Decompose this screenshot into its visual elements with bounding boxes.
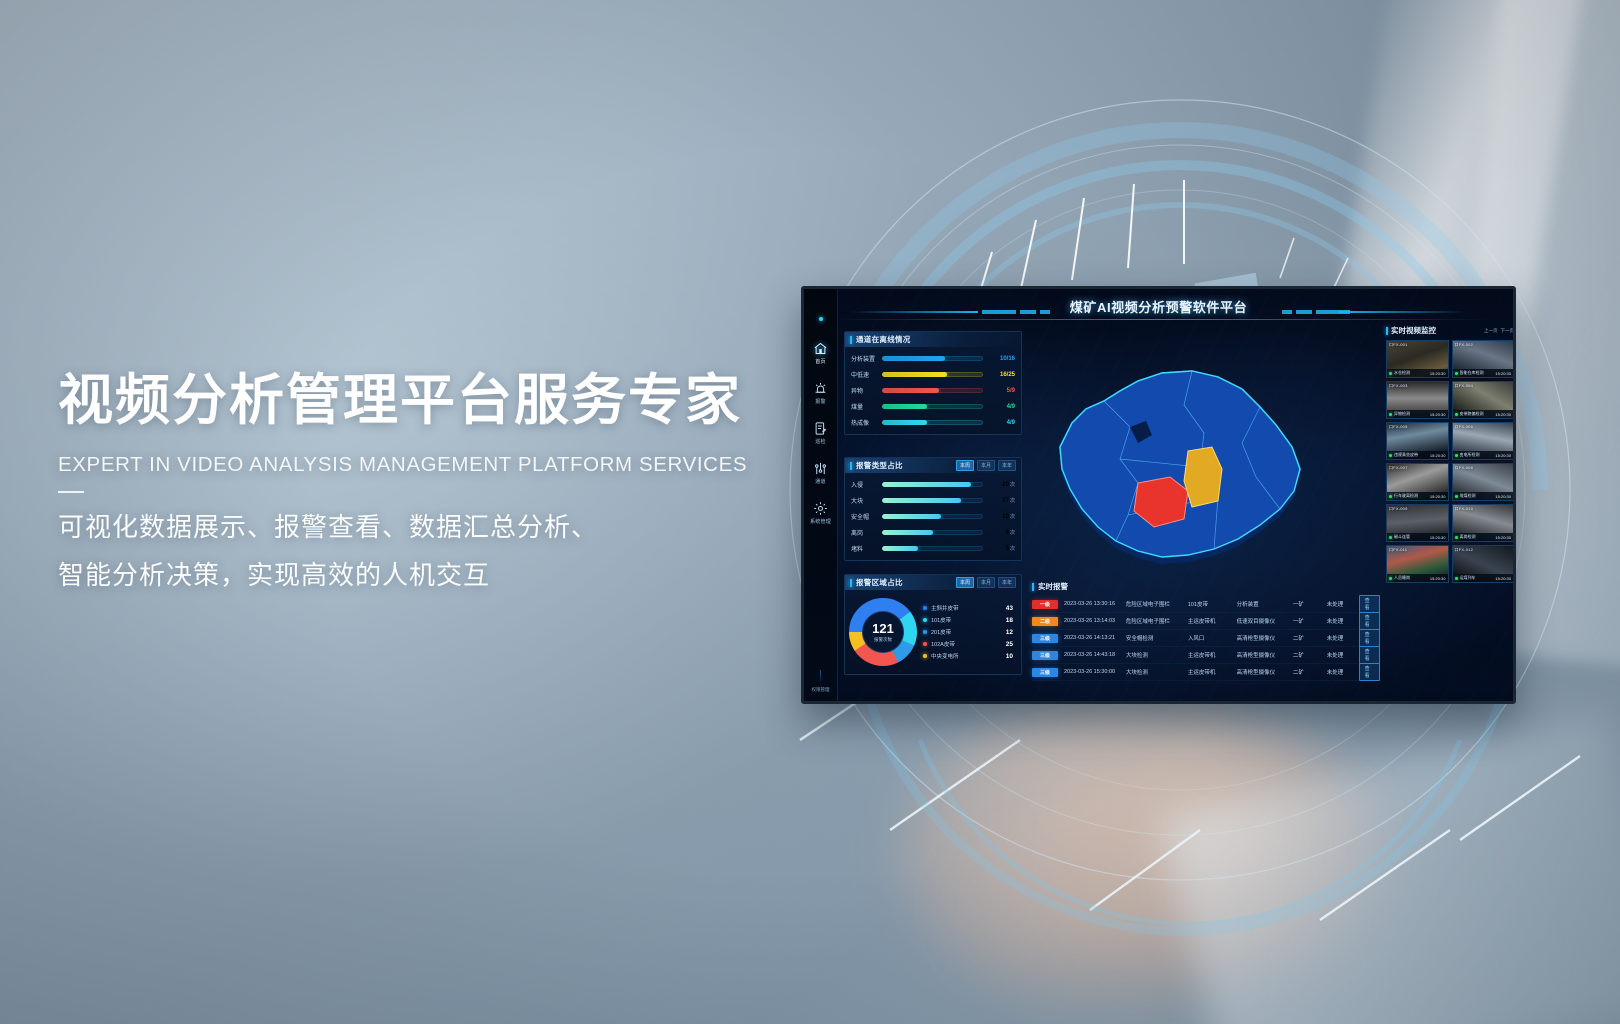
progress-track: [882, 420, 983, 425]
video-tile-name: 皮带跑偏检测: [1460, 411, 1484, 417]
status-badge: 一级: [1032, 600, 1058, 609]
sidebar-item-home[interactable]: 首页: [813, 341, 828, 365]
row-value: 10/16: [988, 356, 1015, 362]
sidebar-item-channel[interactable]: 通道: [813, 461, 828, 485]
segment-本年[interactable]: 本年: [998, 577, 1016, 588]
video-tile-name: 变电所检测: [1460, 452, 1480, 458]
row-label: 异物: [851, 386, 877, 395]
legend-item: 中央变电所10: [923, 652, 1013, 660]
legend-label: 主斜井皮带: [931, 604, 1002, 612]
cell-status: 未处理: [1327, 634, 1359, 642]
row-value: 4/9: [988, 420, 1015, 426]
sidebar-item-label: 首页: [815, 358, 825, 365]
video-tile-time: 15:20:30: [1430, 453, 1446, 458]
video-tile-time: 15:20:30: [1430, 494, 1446, 499]
online-indicator: [1455, 495, 1458, 498]
legend-value: 18: [1006, 617, 1013, 624]
cell-mine: 一矿: [1293, 600, 1327, 608]
row-label: 离岗: [851, 528, 877, 537]
row-value: 4/9: [988, 404, 1015, 410]
online-indicator: [1455, 413, 1458, 416]
cell-mine: 二矿: [1293, 651, 1327, 659]
camera-id: 口FX-005: [1389, 424, 1408, 430]
row-value: 17次: [988, 497, 1015, 504]
row-label: 中低速: [851, 370, 877, 379]
progress-fill: [882, 420, 927, 425]
donut-chart: 121 报警次数: [849, 598, 917, 666]
video-pagination: 上一页 下一页: [1484, 328, 1514, 334]
sidebar-footer-label: 权限管理: [812, 687, 830, 693]
panel-header: 报警类型占比 本周本月本年: [845, 458, 1021, 473]
hero-divider: [58, 491, 84, 493]
table-row: 三级2023-03-26 14:13:21安全帽检测入风口高清枪型摄像仪二矿未处…: [1032, 630, 1380, 647]
online-indicator: [1389, 413, 1392, 416]
video-tile-caption: 智能仓库检测15:20:30: [1453, 369, 1514, 377]
legend-item: 主斜井皮带43: [923, 604, 1013, 612]
video-tile[interactable]: 口FX-011人员睡岗15:20:30: [1386, 545, 1449, 583]
panel-header: 报警区域占比 本周本月本年: [845, 575, 1021, 590]
alarm-type-row: 大块17次: [851, 496, 1015, 505]
view-button[interactable]: 查看: [1359, 663, 1380, 681]
accent-tick: [1386, 327, 1388, 335]
segment-本月[interactable]: 本月: [977, 577, 995, 588]
video-tile-caption: 磁斗连管15:20:30: [1387, 533, 1448, 541]
video-tile[interactable]: 口FX-007行车驶离检测15:20:30: [1386, 463, 1449, 501]
progress-fill: [882, 356, 945, 361]
channel-status-row: 煤量4/9: [851, 402, 1015, 411]
progress-fill: [882, 514, 941, 519]
row-label: 安全帽: [851, 512, 877, 521]
row-label: 煤量: [851, 402, 877, 411]
sidebar-item-label: 系统管理: [810, 518, 831, 525]
row-value: 16/25: [988, 372, 1015, 378]
camera-id: 口FX-004: [1455, 383, 1474, 389]
legend-label: 102A皮带: [931, 640, 1002, 648]
time-range-segmented-control[interactable]: 本周本月本年: [956, 460, 1021, 471]
cell-time: 2023-03-26 13:14:03: [1064, 618, 1126, 624]
dashboard-sidebar: 首页 报警 巡检: [804, 289, 838, 701]
hero-description-line-1: 可视化数据展示、报警查看、数据汇总分析、: [58, 503, 818, 551]
legend-label: 201皮带: [931, 628, 1002, 636]
online-indicator: [1455, 454, 1458, 457]
region-map[interactable]: [1036, 341, 1326, 591]
cell-time: 2023-03-26 13:30:16: [1064, 601, 1126, 607]
channel-status-row: 异物5/9: [851, 386, 1015, 395]
video-tile-name: 违规乘坐皮带: [1394, 452, 1418, 458]
video-tile-caption: 堆煤检测15:20:30: [1453, 492, 1514, 500]
legend-swatch: [923, 630, 927, 634]
dashboard-screen: 煤矿AI视频分析预警软件平台 首页 报: [804, 289, 1513, 701]
camera-id: 口FX-010: [1455, 506, 1474, 512]
online-indicator: [1389, 454, 1392, 457]
sidebar-footer: 权限管理: [812, 670, 830, 693]
table-row: 三级2023-03-26 15:30:00大块检测主运皮带机高清枪型摄像仪二矿未…: [1032, 664, 1380, 681]
video-tile-name: 智能仓库检测: [1460, 370, 1484, 376]
cell-time: 2023-03-26 14:13:21: [1064, 635, 1126, 641]
progress-fill: [882, 546, 918, 551]
video-tile-time: 15:20:30: [1495, 494, 1511, 499]
sidebar-item-alarm[interactable]: 报警: [813, 381, 828, 405]
online-indicator: [1389, 495, 1392, 498]
status-badge: 三级: [1032, 668, 1058, 677]
segment-本年[interactable]: 本年: [998, 460, 1016, 471]
online-indicator: [1389, 577, 1392, 580]
realtime-alarm-panel: 实时报警 一级2023-03-26 13:30:16危险区域电子围栏101皮带分…: [1032, 581, 1380, 681]
sidebar-item-label: 报警: [815, 398, 825, 405]
video-tile-time: 15:20:30: [1430, 535, 1446, 540]
progress-fill: [882, 372, 947, 377]
alarm-type-row: 离岗8次: [851, 528, 1015, 537]
cell-alarm-type: 危险区域电子围栏: [1126, 600, 1188, 608]
camera-id: 口FX-008: [1455, 465, 1474, 471]
panel-title: 报警类型占比: [856, 460, 903, 471]
online-indicator: [1455, 372, 1458, 375]
legend-swatch: [923, 642, 927, 646]
hero-description-line-2: 智能分析决策，实现高效的人机交互: [58, 551, 818, 599]
channel-bar-list: 分析装置10/16中低速16/25异物5/9煤量4/9热成像4/9: [845, 347, 1021, 434]
progress-track: [882, 498, 983, 503]
view-button[interactable]: 查看: [1359, 646, 1380, 664]
donut-total-caption: 报警次数: [874, 637, 892, 643]
cell-location: 主运皮带机: [1188, 668, 1237, 676]
camera-id: 口FX-002: [1455, 342, 1474, 348]
cell-mine: 一矿: [1293, 617, 1327, 625]
hero-subtitle: EXPERT IN VIDEO ANALYSIS MANAGEMENT PLAT…: [58, 453, 818, 477]
video-tile-time: 15:20:30: [1430, 576, 1446, 581]
camera-id: 口FX-006: [1455, 424, 1474, 430]
video-tile-caption: 变电所检测15:20:30: [1453, 451, 1514, 459]
page-title: 视频分析管理平台服务专家: [58, 368, 818, 433]
sidebar-item-system-management[interactable]: 系统管理: [810, 501, 831, 525]
panel-header: 通道在离线情况: [845, 332, 1021, 347]
video-tile-time: 15:20:30: [1495, 535, 1511, 540]
cell-device: 高清枪型摄像仪: [1237, 634, 1293, 642]
map-region-highlight-yellow: [1184, 447, 1222, 507]
camera-id: 口FX-003: [1389, 383, 1408, 389]
legend-item: 201皮带12: [923, 628, 1013, 636]
row-value: 5/9: [988, 388, 1015, 394]
row-label: 大块: [851, 496, 877, 505]
video-tile-time: 15:20:30: [1495, 371, 1511, 376]
row-label: 入侵: [851, 480, 877, 489]
video-tile[interactable]: 口FX-005违规乘坐皮带15:20:30: [1386, 422, 1449, 460]
status-badge: 三级: [1032, 634, 1058, 643]
progress-track: [882, 530, 983, 535]
progress-fill: [882, 388, 939, 393]
online-indicator: [1455, 536, 1458, 539]
online-indicator: [1389, 536, 1392, 539]
cell-location: 101皮带: [1188, 600, 1237, 608]
progress-fill: [882, 482, 971, 487]
segment-本月[interactable]: 本月: [977, 460, 995, 471]
video-tile[interactable]: 口FX-012运煤列车15:20:30: [1452, 545, 1515, 583]
dashboard-header: 煤矿AI视频分析预警软件平台: [804, 289, 1513, 327]
legend-label: 中央变电所: [931, 652, 1002, 660]
sidebar-item-inspection[interactable]: 巡检: [813, 421, 828, 445]
legend-swatch: [923, 618, 927, 622]
video-tile[interactable]: 口FX-002智能仓库检测15:20:30: [1452, 340, 1515, 378]
cell-mine: 二矿: [1293, 668, 1327, 676]
cell-alarm-type: 安全帽检测: [1126, 634, 1188, 642]
video-tile-caption: 违规乘坐皮带15:20:30: [1387, 451, 1448, 459]
cell-mine: 二矿: [1293, 634, 1327, 642]
accent-tick: [850, 336, 852, 344]
video-tile-name: 离岗检测: [1460, 534, 1476, 540]
progress-track: [882, 388, 983, 393]
progress-fill: [882, 404, 927, 409]
time-range-segmented-control[interactable]: 本周本月本年: [956, 577, 1021, 588]
dashboard-monitor: 煤矿AI视频分析预警软件平台 首页 报: [801, 286, 1516, 704]
channel-status-row: 分析装置10/16: [851, 354, 1015, 363]
cell-alarm-type: 危险区域电子围栏: [1126, 617, 1188, 625]
cell-status: 未处理: [1327, 651, 1359, 659]
dashboard-title: 煤矿AI视频分析预警软件平台: [804, 297, 1513, 316]
video-tile-time: 15:20:30: [1495, 412, 1511, 417]
row-label: 堵料: [851, 544, 877, 553]
home-icon: [813, 341, 828, 356]
video-tile-caption: 人员睡岗15:20:30: [1387, 574, 1448, 582]
video-tile-grid: 口FX-001水仓检测15:20:30口FX-002智能仓库检测15:20:30…: [1386, 340, 1514, 583]
cell-device: 分析装置: [1237, 600, 1293, 608]
view-button[interactable]: 查看: [1359, 629, 1380, 647]
cell-status: 未处理: [1327, 668, 1359, 676]
legend-swatch: [923, 606, 927, 610]
video-tile-time: 15:20:30: [1495, 576, 1511, 581]
accent-tick: [850, 579, 852, 587]
view-button[interactable]: 查看: [1359, 612, 1380, 630]
sidebar-item-label: 通道: [815, 478, 825, 485]
video-tile[interactable]: 口FX-009磁斗连管15:20:30: [1386, 504, 1449, 542]
panel-title: 通道在离线情况: [856, 334, 911, 345]
legend-value: 25: [1006, 641, 1013, 648]
alarm-area-panel: 报警区域占比 本周本月本年 121 报警次数 主斜井皮带43101皮带18201…: [844, 574, 1022, 675]
progress-track: [882, 514, 983, 519]
row-value: 10次: [988, 513, 1015, 520]
channel-status-panel: 通道在离线情况 分析装置10/16中低速16/25异物5/9煤量4/9热成像4/…: [844, 331, 1022, 435]
progress-track: [882, 404, 983, 409]
gear-icon: [813, 501, 828, 516]
cell-device: 低速双目摄像仪: [1237, 617, 1293, 625]
sidebar-item-label: 巡检: [815, 438, 825, 445]
alarm-table-body: 一级2023-03-26 13:30:16危险区域电子围栏101皮带分析装置一矿…: [1032, 596, 1380, 681]
row-label: 分析装置: [851, 354, 877, 363]
segment-本周[interactable]: 本周: [956, 577, 974, 588]
alarm-type-row: 堵料5次: [851, 544, 1015, 553]
video-tile-name: 堆煤检测: [1460, 493, 1476, 499]
donut-center: 121 报警次数: [862, 611, 904, 653]
video-tile-name: 异物检测: [1394, 411, 1410, 417]
alarm-type-row: 安全帽10次: [851, 512, 1015, 521]
legend-value: 12: [1006, 629, 1013, 636]
row-value: 8次: [988, 529, 1015, 536]
donut-legend: 主斜井皮带43101皮带18201皮带12102A皮带25中央变电所10: [923, 604, 1015, 660]
camera-id: 口FX-012: [1455, 547, 1474, 553]
status-badge: 三级: [1032, 651, 1058, 660]
online-indicator: [1455, 577, 1458, 580]
accent-tick: [850, 462, 852, 470]
status-badge: 二级: [1032, 617, 1058, 626]
video-tile[interactable]: 口FX-003异物检测15:20:30: [1386, 381, 1449, 419]
cell-alarm-type: 大块检测: [1126, 651, 1188, 659]
video-tile-name: 水仓检测: [1394, 370, 1410, 376]
progress-track: [882, 546, 983, 551]
channel-status-row: 中低速16/25: [851, 370, 1015, 379]
row-value: 5次: [988, 545, 1015, 552]
hero-text-block: 视频分析管理平台服务专家 EXPERT IN VIDEO ANALYSIS MA…: [58, 368, 818, 599]
table-row: 二级2023-03-26 13:14:03危险区域电子围栏主运皮带机低速双目摄像…: [1032, 613, 1380, 630]
video-tile-caption: 运煤列车15:20:30: [1453, 574, 1514, 582]
camera-id: 口FX-011: [1389, 547, 1407, 553]
legend-value: 10: [1006, 653, 1013, 660]
video-tile-time: 15:20:30: [1430, 412, 1446, 417]
cell-status: 未处理: [1327, 600, 1359, 608]
prev-page-button[interactable]: 上一页: [1484, 328, 1498, 334]
view-button[interactable]: 查看: [1359, 595, 1380, 613]
video-tile[interactable]: 口FX-004皮带跑偏检测15:20:30: [1452, 381, 1515, 419]
cell-status: 未处理: [1327, 617, 1359, 625]
panel-title: 报警区域占比: [856, 577, 903, 588]
next-page-button[interactable]: 下一页: [1501, 328, 1515, 334]
channel-status-row: 热成像4/9: [851, 418, 1015, 427]
camera-id: 口FX-009: [1389, 506, 1408, 512]
legend-item: 101皮带18: [923, 616, 1013, 624]
segment-本周[interactable]: 本周: [956, 460, 974, 471]
video-tile[interactable]: 口FX-001水仓检测15:20:30: [1386, 340, 1449, 378]
accent-tick: [1032, 583, 1034, 591]
camera-id: 口FX-007: [1389, 465, 1408, 471]
camera-id: 口FX-001: [1389, 342, 1408, 348]
video-tile-name: 运煤列车: [1460, 575, 1476, 581]
row-value: 20次: [988, 481, 1015, 488]
cell-location: 主运皮带机: [1188, 651, 1237, 659]
progress-track: [882, 356, 983, 361]
table-row: 三级2023-03-26 14:43:18大块检测主运皮带机高清枪型摄像仪二矿未…: [1032, 647, 1380, 664]
alarm-type-panel: 报警类型占比 本周本月本年 入侵20次大块17次安全帽10次离岗8次堵料5次: [844, 457, 1022, 561]
alarm-icon: [813, 381, 828, 396]
table-row: 一级2023-03-26 13:30:16危险区域电子围栏101皮带分析装置一矿…: [1032, 596, 1380, 613]
online-indicator: [1389, 372, 1392, 375]
panel-header: 实时报警: [1032, 581, 1380, 592]
live-video-panel: 实时视频监控 上一页 下一页 口FX-001水仓检测15:20:30口FX-00…: [1386, 325, 1514, 700]
alarm-type-row: 入侵20次: [851, 480, 1015, 489]
progress-track: [882, 372, 983, 377]
inspection-icon: [813, 421, 828, 436]
status-dot: [819, 317, 823, 321]
alarm-area-body: 121 报警次数 主斜井皮带43101皮带18201皮带12102A皮带25中央…: [845, 590, 1021, 674]
video-tile-caption: 离岗检测15:20:30: [1453, 533, 1514, 541]
video-tile[interactable]: 口FX-010离岗检测15:20:30: [1452, 504, 1515, 542]
video-tile-name: 人员睡岗: [1394, 575, 1410, 581]
video-tile-time: 15:20:30: [1430, 371, 1446, 376]
alarm-type-bar-list: 入侵20次大块17次安全帽10次离岗8次堵料5次: [845, 473, 1021, 560]
legend-item: 102A皮带25: [923, 640, 1013, 648]
panel-title: 实时报警: [1038, 581, 1068, 592]
video-tile[interactable]: 口FX-008堆煤检测15:20:30: [1452, 463, 1515, 501]
donut-total-value: 121: [872, 622, 894, 635]
video-tile-caption: 皮带跑偏检测15:20:30: [1453, 410, 1514, 418]
row-label: 热成像: [851, 418, 877, 427]
legend-value: 43: [1006, 605, 1013, 612]
video-tile-name: 磁斗连管: [1394, 534, 1410, 540]
progress-track: [882, 482, 983, 487]
legend-swatch: [923, 654, 927, 658]
legend-label: 101皮带: [931, 616, 1002, 624]
video-tile-caption: 水仓检测15:20:30: [1387, 369, 1448, 377]
channel-icon: [813, 461, 828, 476]
video-tile-caption: 行车驶离检测15:20:30: [1387, 492, 1448, 500]
cell-location: 主运皮带机: [1188, 617, 1237, 625]
cell-time: 2023-03-26 14:43:18: [1064, 652, 1126, 658]
video-tile[interactable]: 口FX-006变电所检测15:20:30: [1452, 422, 1515, 460]
video-tile-caption: 异物检测15:20:30: [1387, 410, 1448, 418]
cell-device: 高清枪型摄像仪: [1237, 668, 1293, 676]
progress-fill: [882, 498, 961, 503]
cell-time: 2023-03-26 15:30:00: [1064, 669, 1126, 675]
cell-device: 高清枪型摄像仪: [1237, 651, 1293, 659]
video-tile-name: 行车驶离检测: [1394, 493, 1418, 499]
video-tile-time: 15:20:30: [1495, 453, 1511, 458]
cell-alarm-type: 大块检测: [1126, 668, 1188, 676]
progress-fill: [882, 530, 933, 535]
cell-location: 入风口: [1188, 634, 1237, 642]
